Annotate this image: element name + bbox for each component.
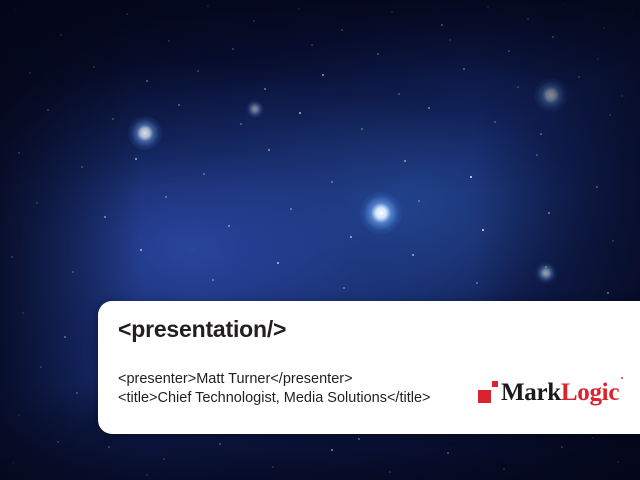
- presenter-line: <presenter>Matt Turner</presenter>: [118, 370, 430, 389]
- role-line: <title>Chief Technologist, Media Solutio…: [118, 389, 430, 408]
- marklogic-square-icon: [478, 381, 498, 403]
- marklogic-logo: MarkLogic·: [478, 377, 623, 403]
- logo-word-mark: Mark: [501, 379, 561, 406]
- logo-wordmark: MarkLogic·: [501, 380, 623, 405]
- registered-trademark-icon: ·: [620, 371, 624, 385]
- presentation-slide: <presentation/> <presenter>Matt Turner</…: [0, 0, 640, 480]
- logo-word-logic: Logic: [561, 379, 619, 406]
- presenter-meta: <presenter>Matt Turner</presenter> <titl…: [118, 370, 430, 408]
- page-title: <presentation/>: [118, 317, 640, 342]
- title-card: <presentation/> <presenter>Matt Turner</…: [98, 301, 640, 434]
